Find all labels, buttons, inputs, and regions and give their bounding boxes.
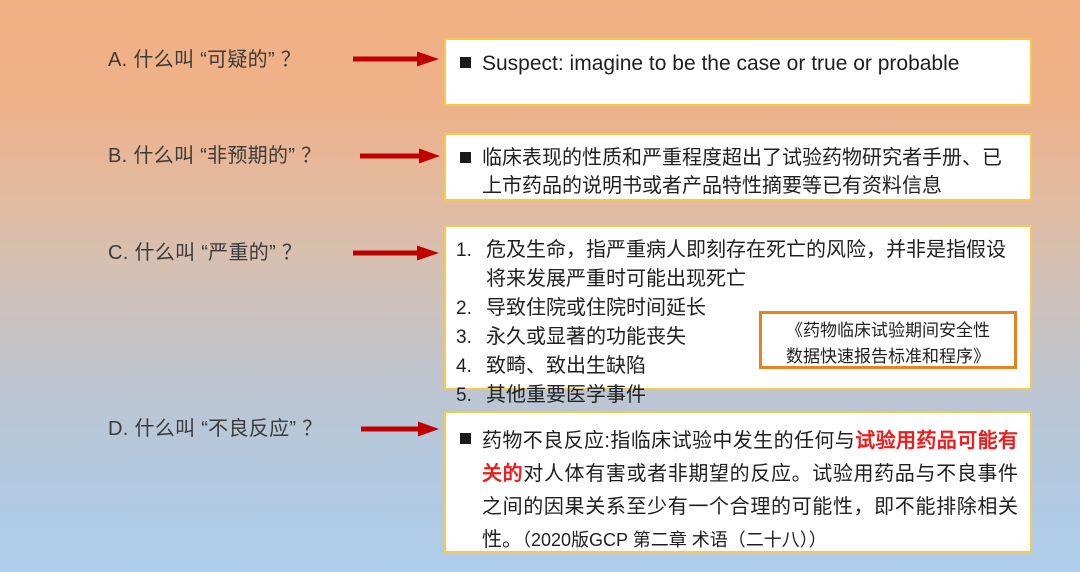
question-label-a: A. 什么叫 “可疑的” ？ — [108, 47, 301, 73]
regulation-callout: 《药物临床试验期间安全性 数据快速报告标准和程序》 — [759, 311, 1017, 369]
list-item-index: 3. — [456, 323, 486, 352]
answer-d-text: 药物不良反应:指临床试验中发生的任何与试验用药品可能有关的对人体有害或者非期望的… — [482, 425, 1018, 557]
arrow-to-answer-d — [361, 420, 439, 436]
square-bullet-icon — [460, 57, 471, 68]
list-item-index: 1. — [456, 236, 486, 265]
answer-d-segment-1: 药物不良反应:指临床试验中发生的任何与 — [482, 430, 855, 452]
square-bullet-icon — [460, 152, 471, 163]
list-item-text: 危及生命，指严重病人即刻存在死亡的风险，并非是指假设将来发展严重时可能出现死亡 — [486, 236, 1018, 294]
regulation-callout-line-2: 数据快速报告标准和程序》 — [770, 344, 1006, 370]
answer-d-citation: （2020版GCP 第二章 术语（二十八）） — [522, 530, 827, 550]
arrow-to-answer-b — [360, 147, 440, 163]
question-label-b: B. 什么叫 “非预期的” ？ — [108, 143, 321, 169]
list-item-index: 5. — [456, 381, 486, 410]
list-item: 1. 危及生命，指严重病人即刻存在死亡的风险，并非是指假设将来发展严重时可能出现… — [456, 236, 1018, 294]
arrow-to-answer-a — [353, 50, 439, 66]
answer-b-text: 临床表现的性质和严重程度超出了试验药物研究者手册、已上市药品的说明书或者产品特性… — [482, 144, 1018, 200]
regulation-callout-line-1: 《药物临床试验期间安全性 — [770, 318, 1006, 344]
answer-box-d: 药物不良反应:指临床试验中发生的任何与试验用药品可能有关的对人体有害或者非期望的… — [444, 411, 1032, 553]
list-item-text: 其他重要医学事件 — [486, 381, 1018, 410]
list-item-index: 4. — [456, 352, 486, 381]
question-label-d: D. 什么叫 “不良反应” ？ — [108, 416, 323, 442]
question-label-c: C. 什么叫 “严重的” ？ — [108, 240, 302, 266]
answer-a-text: Suspect: imagine to be the case or true … — [482, 49, 1018, 78]
list-item: 5. 其他重要医学事件 — [456, 381, 1018, 410]
slide-canvas: A. 什么叫 “可疑的” ？ B. 什么叫 “非预期的” ？ C. 什么叫 “严… — [0, 0, 1080, 572]
square-bullet-icon — [460, 433, 471, 444]
arrow-to-answer-c — [353, 244, 439, 260]
answer-box-b: 临床表现的性质和严重程度超出了试验药物研究者手册、已上市药品的说明书或者产品特性… — [444, 133, 1032, 201]
answer-box-c: 1. 危及生命，指严重病人即刻存在死亡的风险，并非是指假设将来发展严重时可能出现… — [444, 225, 1032, 390]
answer-box-a: Suspect: imagine to be the case or true … — [444, 38, 1032, 106]
list-item-index: 2. — [456, 294, 486, 323]
